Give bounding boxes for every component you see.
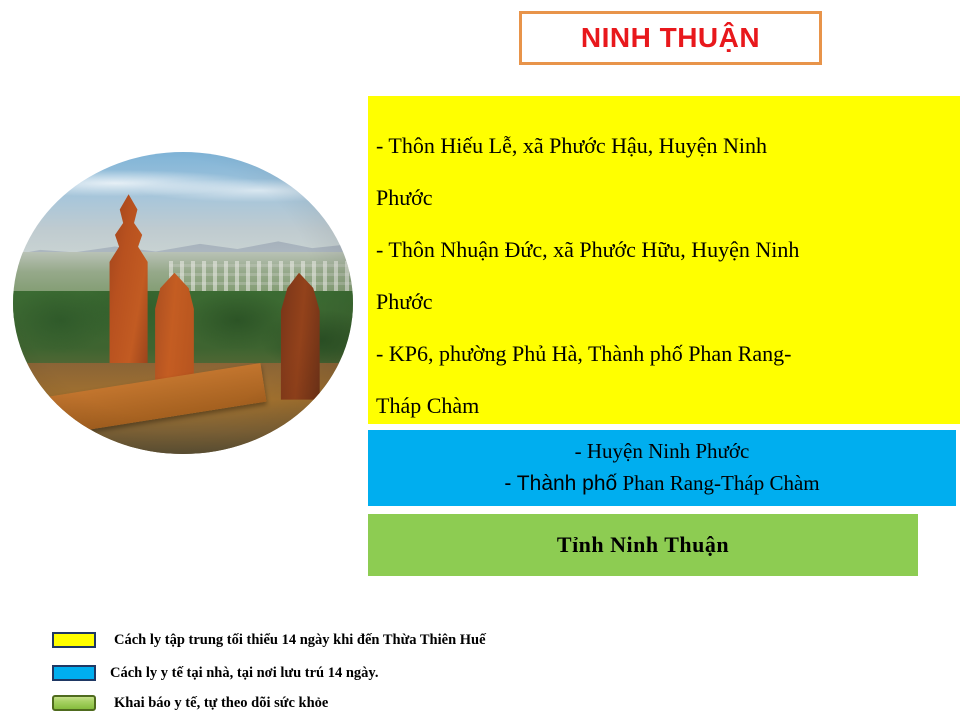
- legend-swatch-blue-icon: [52, 665, 96, 681]
- legend-swatch-yellow-icon: [52, 632, 96, 648]
- province-photo: [13, 152, 353, 454]
- legend-label-green: Khai báo y tế, tự theo dõi sức khỏe: [114, 695, 328, 712]
- green-line: Tỉnh Ninh Thuận: [557, 532, 729, 558]
- yellow-line-5: - KP6, phường Phủ Hà, Thành phố Phan Ran…: [376, 328, 940, 380]
- legend-item-green: Khai báo y tế, tự theo dõi sức khỏe: [52, 691, 652, 715]
- photo-vignette: [13, 152, 353, 454]
- legend: Cách ly tập trung tối thiểu 14 ngày khi …: [52, 628, 652, 715]
- yellow-line-3: - Thôn Nhuận Đức, xã Phước Hữu, Huyện Ni…: [376, 224, 940, 276]
- blue-line-2-prefix: - Thành phố: [504, 472, 617, 495]
- legend-label-blue: Cách ly y tế tại nhà, tại nơi lưu trú 14…: [110, 665, 379, 682]
- yellow-line-6: Tháp Chàm: [376, 380, 940, 432]
- page-title: NINH THUẬN: [581, 22, 760, 54]
- yellow-line-4: Phước: [376, 276, 940, 328]
- quarantine-locations-yellow-block: - Thôn Hiếu Lễ, xã Phước Hậu, Huyện Ninh…: [368, 96, 960, 424]
- health-declaration-green-block: Tỉnh Ninh Thuận: [368, 514, 918, 576]
- yellow-line-2: Phước: [376, 172, 940, 224]
- home-quarantine-blue-block: - Huyện Ninh Phước - Thành phố Phan Rang…: [368, 430, 956, 506]
- legend-label-yellow: Cách ly tập trung tối thiểu 14 ngày khi …: [114, 632, 486, 649]
- yellow-line-1: - Thôn Hiếu Lễ, xã Phước Hậu, Huyện Ninh: [376, 120, 940, 172]
- legend-swatch-green-icon: [52, 695, 96, 711]
- province-title-box: NINH THUẬN: [519, 11, 822, 65]
- legend-item-yellow: Cách ly tập trung tối thiểu 14 ngày khi …: [52, 628, 652, 652]
- blue-line-2: - Thành phố Phan Rang-Tháp Chàm: [504, 467, 819, 500]
- blue-line-1: - Huyện Ninh Phước: [575, 435, 750, 467]
- legend-item-blue: Cách ly y tế tại nhà, tại nơi lưu trú 14…: [52, 661, 652, 685]
- blue-line-2-suffix: Phan Rang-Tháp Chàm: [617, 471, 819, 495]
